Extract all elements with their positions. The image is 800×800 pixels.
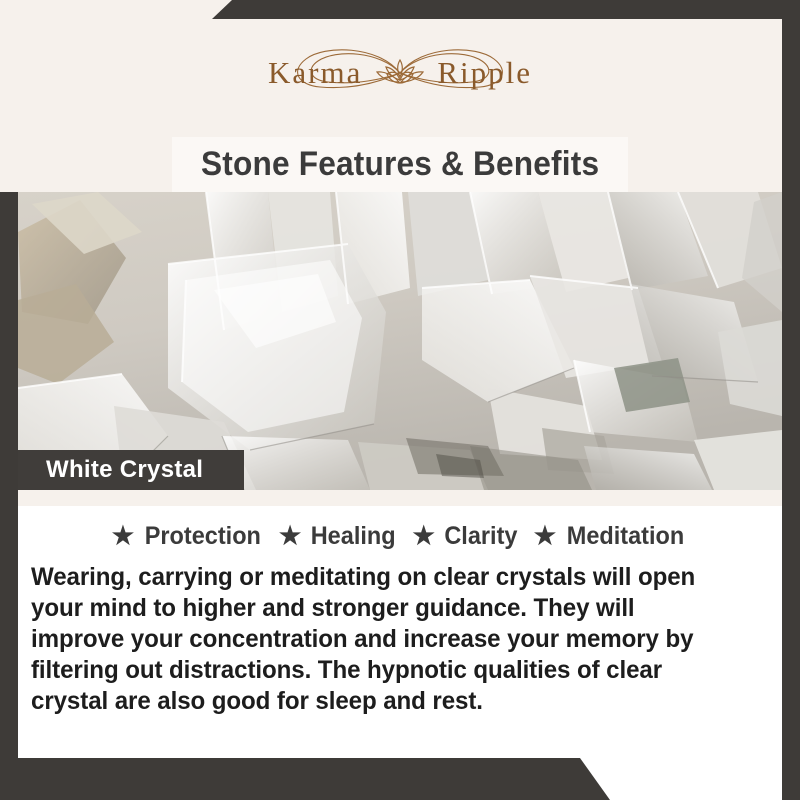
brand-logo: Karma Ripple: [0, 36, 800, 110]
frame-left-strip: [0, 192, 18, 800]
feature-label: Healing: [311, 522, 396, 551]
cream-divider-strip: [0, 490, 800, 506]
photo-caption-banner: White Crystal: [18, 450, 244, 490]
features-row: ★ Protection ★ Healing ★ Clarity ★ Medit…: [18, 516, 782, 556]
crystal-photo-graphic: [18, 192, 782, 490]
stone-benefits-card: Karma Ripple Stone Features & Benefits: [0, 0, 800, 800]
frame-right-strip: [782, 0, 800, 800]
description-text: Wearing, carrying or meditating on clear…: [31, 562, 732, 717]
frame-top-band: [212, 0, 800, 19]
page-title: Stone Features & Benefits: [201, 145, 599, 184]
title-panel: Stone Features & Benefits: [172, 137, 628, 192]
lotus-infinity-icon: Karma Ripple: [250, 39, 550, 107]
star-icon: ★: [112, 524, 134, 549]
photo-caption-label: White Crystal: [46, 456, 203, 484]
brand-name-left: Karma: [268, 55, 362, 90]
crystal-photo: [18, 192, 782, 490]
feature-item-protection: ★ Protection: [112, 522, 265, 551]
star-icon: ★: [279, 524, 301, 549]
star-icon: ★: [534, 524, 556, 549]
feature-item-meditation: ★ Meditation: [534, 522, 688, 551]
star-icon: ★: [413, 524, 435, 549]
feature-item-clarity: ★ Clarity: [413, 522, 520, 551]
feature-label: Protection: [145, 522, 261, 551]
frame-bottom-band: [0, 758, 610, 800]
description-block: Wearing, carrying or meditating on clear…: [31, 562, 757, 717]
feature-label: Clarity: [444, 522, 517, 551]
feature-label: Meditation: [567, 522, 685, 551]
brand-name-right: Ripple: [437, 55, 532, 90]
feature-item-healing: ★ Healing: [279, 522, 399, 551]
